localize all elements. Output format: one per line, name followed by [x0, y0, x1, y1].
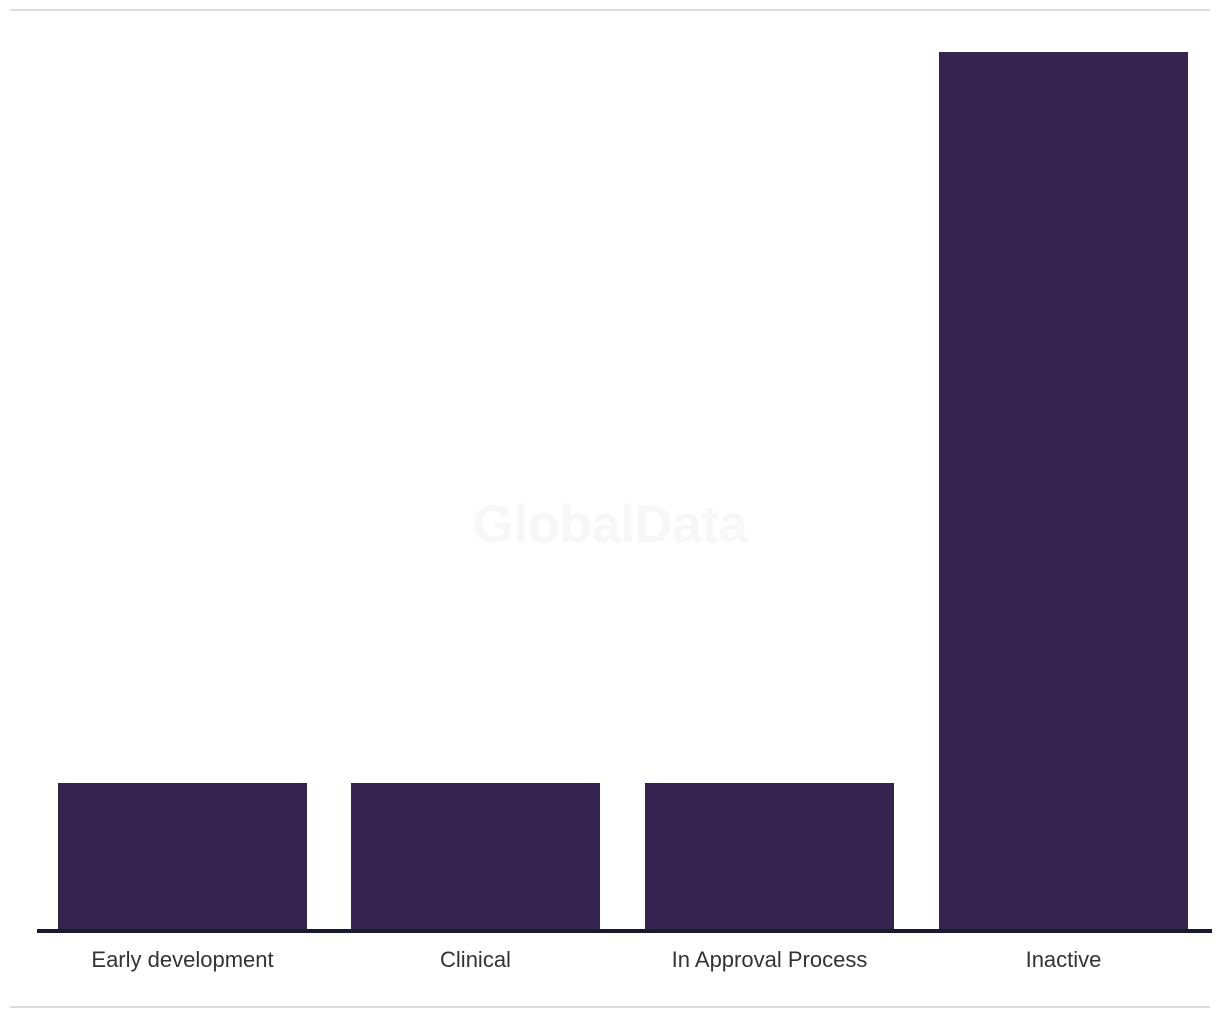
x-axis-label-early-development: Early development — [58, 946, 307, 975]
bar-inactive[interactable] — [939, 52, 1188, 930]
x-axis-label-in-approval-process: In Approval Process — [645, 946, 894, 975]
x-axis-label-clinical: Clinical — [351, 946, 600, 975]
bottom-divider — [10, 1006, 1210, 1008]
bar-in-approval-process[interactable] — [645, 783, 894, 930]
top-divider — [10, 9, 1210, 11]
bar-early-development[interactable] — [58, 783, 307, 930]
x-axis-label-inactive: Inactive — [939, 946, 1188, 975]
bar-clinical[interactable] — [351, 783, 600, 930]
plot-area: GlobalData — [0, 20, 1220, 930]
bar-chart-figure: GlobalData Early development Clinical In… — [0, 0, 1220, 1020]
x-axis-baseline — [37, 929, 1212, 933]
